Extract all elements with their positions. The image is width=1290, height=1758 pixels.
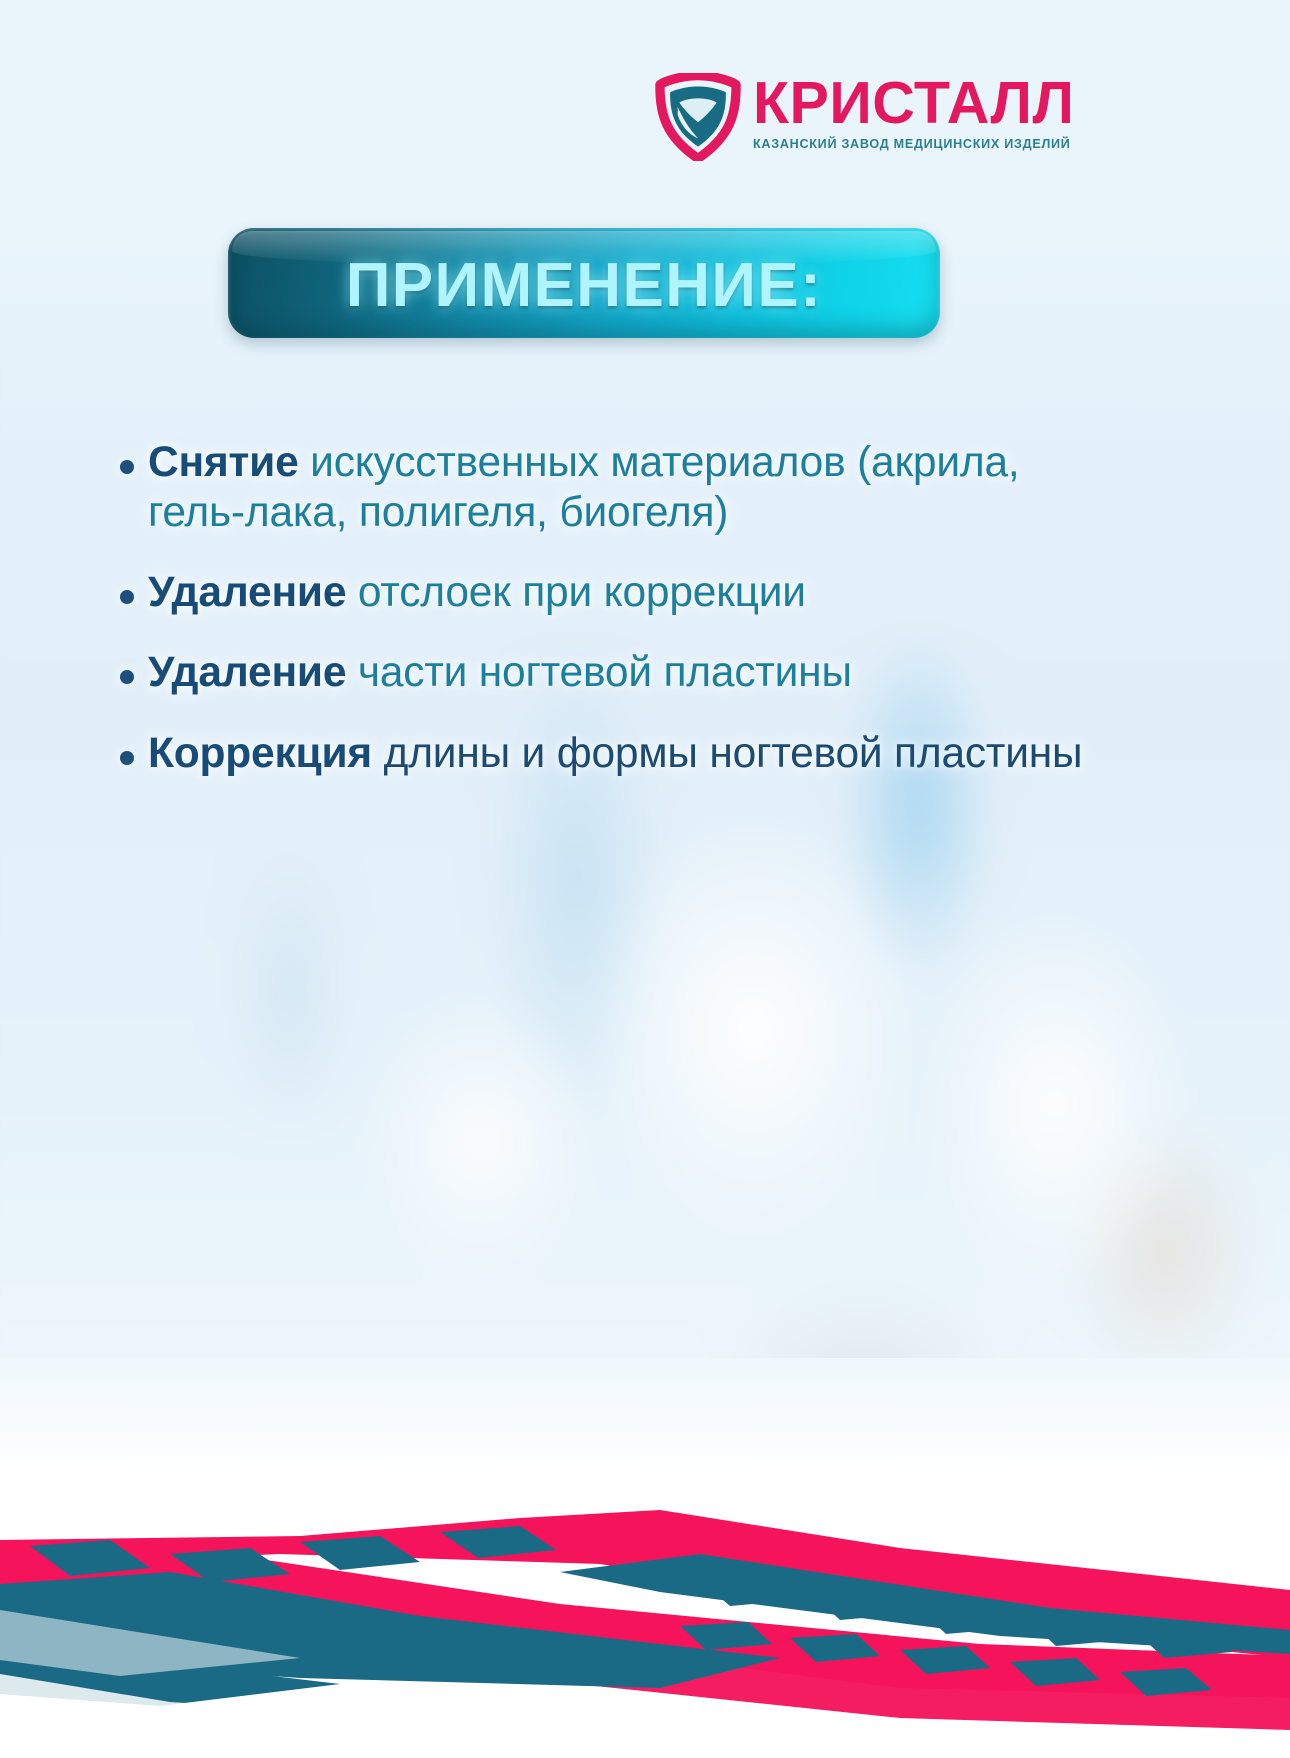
brand-name: КРИСТАЛЛ bbox=[753, 76, 1074, 130]
list-item-text: Удаление отслоек при коррекции bbox=[148, 568, 806, 618]
crystal-shield-icon bbox=[655, 73, 741, 161]
brand-text-block: КРИСТАЛЛ КАЗАНСКИЙ ЗАВОД МЕДИЦИНСКИХ ИЗД… bbox=[753, 72, 1074, 151]
brand-tagline: КАЗАНСКИЙ ЗАВОД МЕДИЦИНСКИХ ИЗДЕЛИЙ bbox=[753, 137, 1074, 151]
list-item-rest: длины и формы ногтевой пластины bbox=[372, 730, 1082, 777]
brand-logo: КРИСТАЛЛ КАЗАНСКИЙ ЗАВОД МЕДИЦИНСКИХ ИЗД… bbox=[655, 72, 1085, 164]
list-item-text: Удаление части ногтевой пластины bbox=[148, 648, 852, 698]
list-item-rest: отслоек при коррекции bbox=[346, 569, 806, 616]
bottom-decoration bbox=[0, 1358, 1290, 1758]
list-item-lead: Коррекция bbox=[148, 730, 372, 777]
section-title-banner: ПРИМЕНЕНИЕ: bbox=[228, 228, 940, 338]
list-item-text: Снятие искусственных материалов (акрила,… bbox=[148, 438, 1120, 538]
list-item-lead: Удаление bbox=[148, 569, 346, 616]
geometric-ribbon-graphic bbox=[0, 1358, 1290, 1758]
list-item: Снятие искусственных материалов (акрила,… bbox=[120, 438, 1120, 538]
bullet-dot-icon bbox=[120, 751, 134, 765]
usage-list: Снятие искусственных материалов (акрила,… bbox=[120, 438, 1120, 809]
list-item: Удаление отслоек при коррекции bbox=[120, 568, 1120, 618]
poster-root: КРИСТАЛЛ КАЗАНСКИЙ ЗАВОД МЕДИЦИНСКИХ ИЗД… bbox=[0, 0, 1290, 1758]
list-item-lead: Снятие bbox=[148, 439, 299, 486]
bullet-dot-icon bbox=[120, 670, 134, 684]
list-item-lead: Удаление bbox=[148, 649, 346, 696]
list-item-rest: части ногтевой пластины bbox=[346, 649, 852, 696]
bullet-dot-icon bbox=[120, 460, 134, 474]
bullet-dot-icon bbox=[120, 590, 134, 604]
background-top-wash bbox=[0, 0, 1290, 430]
list-item: Коррекция длины и формы ногтевой пластин… bbox=[120, 729, 1120, 779]
page-title: ПРИМЕНЕНИЕ: bbox=[346, 250, 822, 321]
list-item: Удаление части ногтевой пластины bbox=[120, 648, 1120, 698]
list-item-text: Коррекция длины и формы ногтевой пластин… bbox=[148, 729, 1082, 779]
